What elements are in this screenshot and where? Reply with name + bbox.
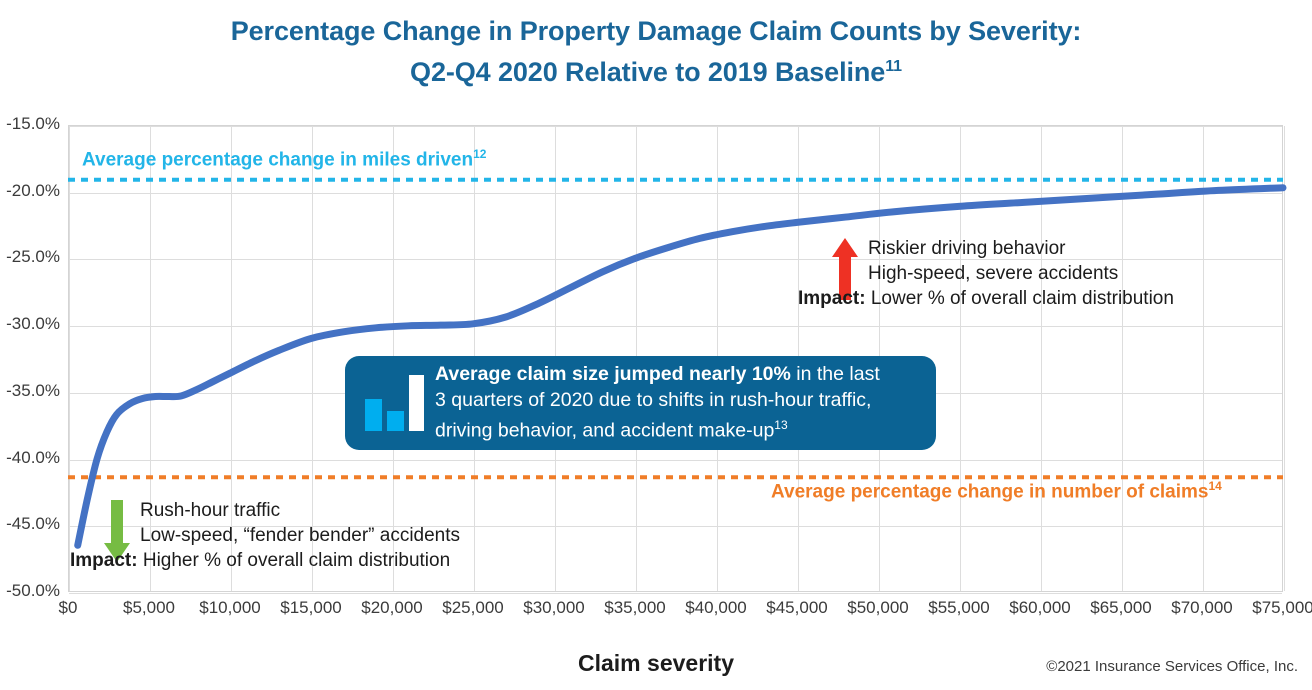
reference-label-claims-footnote: 14 (1209, 479, 1222, 493)
y-tick-label: -30.0% (0, 314, 60, 334)
x-tick-label: $5,000 (123, 598, 175, 618)
annotation-down-impact-label: Impact: (70, 550, 138, 571)
page-title: Percentage Change in Property Damage Cla… (0, 14, 1312, 90)
title-line-1: Percentage Change in Property Damage Cla… (231, 16, 1082, 46)
annotation-up-impact-text: Lower % of overall claim distribution (866, 288, 1174, 309)
callout-rest-line-1: in the last (791, 363, 880, 385)
x-tick-label: $50,000 (847, 598, 908, 618)
x-tick-label: $15,000 (280, 598, 341, 618)
annotation-up-line-2: High-speed, severe accidents (868, 261, 1118, 286)
x-tick-label: $30,000 (523, 598, 584, 618)
x-gridline (1284, 126, 1285, 591)
y-gridline (69, 126, 1282, 127)
x-tick-label: $45,000 (766, 598, 827, 618)
callout-line-2: 3 quarters of 2020 due to shifts in rush… (435, 389, 871, 411)
reference-label-number-of-claims: Average percentage change in number of c… (771, 479, 1222, 503)
annotation-down-impact-text: Higher % of overall claim distribution (138, 550, 451, 571)
y-tick-label: -15.0% (0, 114, 60, 134)
x-gridline (1041, 126, 1042, 591)
bar-chart-icon-bar-3 (409, 375, 424, 431)
annotation-down-line-2: Low-speed, “fender bender” accidents (140, 523, 460, 548)
callout-box: Average claim size jumped nearly 10% in … (345, 356, 936, 450)
reference-label-miles-footnote: 12 (473, 147, 486, 161)
x-gridline (69, 126, 70, 591)
bar-chart-icon-bar-1 (365, 399, 382, 431)
x-tick-label: $35,000 (604, 598, 665, 618)
y-gridline (69, 193, 1282, 194)
x-tick-label: $75,000 (1252, 598, 1312, 618)
y-tick-label: -25.0% (0, 247, 60, 267)
x-tick-label: $65,000 (1090, 598, 1151, 618)
y-gridline (69, 326, 1282, 327)
annotation-up-line-1: Riskier driving behavior (868, 236, 1118, 261)
x-tick-label: $25,000 (442, 598, 503, 618)
callout-text: Average claim size jumped nearly 10% in … (435, 362, 880, 444)
y-gridline (69, 593, 1282, 594)
x-tick-label: $20,000 (361, 598, 422, 618)
x-tick-label: $70,000 (1171, 598, 1232, 618)
y-tick-label: -45.0% (0, 514, 60, 534)
chart-figure: Percentage Change in Property Damage Cla… (0, 0, 1312, 690)
bar-chart-icon (363, 375, 425, 431)
x-gridline (960, 126, 961, 591)
y-tick-label: -35.0% (0, 381, 60, 401)
annotation-down-line-1: Rush-hour traffic (140, 498, 460, 523)
reference-label-miles-text: Average percentage change in miles drive… (82, 149, 473, 170)
y-tick-label: -50.0% (0, 581, 60, 601)
annotation-up-impact-label: Impact: (798, 288, 866, 309)
callout-line-3: driving behavior, and accident make-up (435, 420, 774, 442)
title-line-2: Q2-Q4 2020 Relative to 2019 Baseline (410, 57, 885, 87)
y-gridline (69, 460, 1282, 461)
x-tick-label: $60,000 (1009, 598, 1070, 618)
x-gridline (1122, 126, 1123, 591)
title-footnote-ref: 11 (885, 58, 902, 75)
annotation-down-text-block: Rush-hour traffic Low-speed, “fender ben… (140, 498, 460, 548)
callout-footnote-ref: 13 (774, 418, 787, 432)
annotation-down-impact: Impact: Higher % of overall claim distri… (70, 548, 450, 573)
x-tick-label: $55,000 (928, 598, 989, 618)
annotation-up-impact: Impact: Lower % of overall claim distrib… (798, 286, 1174, 311)
x-tick-label: $40,000 (685, 598, 746, 618)
reference-label-miles-driven: Average percentage change in miles drive… (82, 147, 486, 171)
annotation-up-text-block: Riskier driving behavior High-speed, sev… (868, 236, 1118, 286)
x-tick-label: $0 (59, 598, 78, 618)
x-tick-label: $10,000 (199, 598, 260, 618)
y-tick-label: -20.0% (0, 181, 60, 201)
bar-chart-icon-bar-2 (387, 411, 404, 431)
y-tick-label: -40.0% (0, 448, 60, 468)
x-gridline (1203, 126, 1204, 591)
reference-label-claims-text: Average percentage change in number of c… (771, 481, 1209, 502)
copyright-notice: ©2021 Insurance Services Office, Inc. (1046, 658, 1298, 675)
callout-bold-text: Average claim size jumped nearly 10% (435, 363, 791, 385)
